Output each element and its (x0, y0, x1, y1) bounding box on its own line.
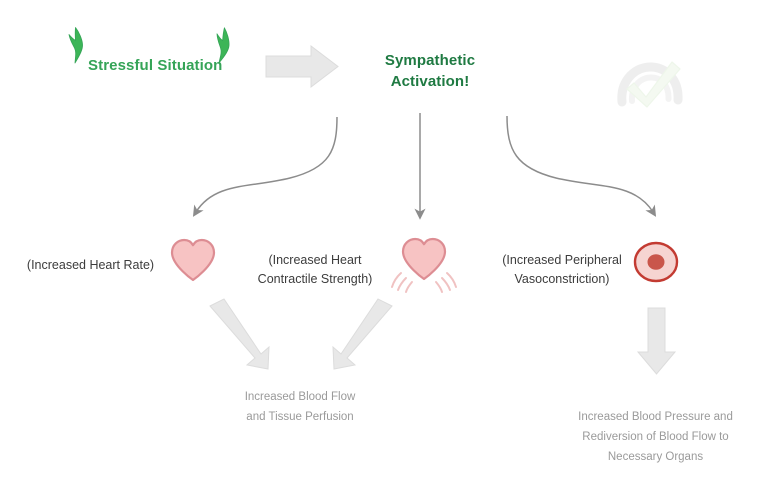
stressful-situation-label: Stressful Situation (88, 57, 222, 74)
outcome-label-contractile-strength-line2: Contractile Strength) (240, 270, 390, 289)
outcome-label-vasoconstriction-line2: Vasoconstriction) (487, 270, 637, 289)
block-arrow-down (638, 308, 675, 374)
sympathetic-activation-line2: Activation! (360, 71, 500, 92)
result-text-blood-flow-line2: and Tissue Perfusion (205, 407, 395, 427)
result-text-blood-pressure-line3: Necessary Organs (543, 447, 768, 467)
curved-arrow-left (196, 117, 337, 212)
result-text-blood-flow: Increased Blood Flow and Tissue Perfusio… (205, 387, 395, 427)
lightning-bolt-icon-left (62, 26, 88, 71)
result-text-blood-pressure-line1: Increased Blood Pressure and (543, 407, 768, 427)
outcome-label-vasoconstriction: (Increased Peripheral Vasoconstriction) (487, 251, 637, 289)
result-text-blood-pressure-line2: Rediversion of Blood Flow to (543, 427, 768, 447)
outcome-label-contractile-strength: (Increased Heart Contractile Strength) (240, 251, 390, 289)
beating-heart-icon (388, 235, 460, 302)
block-arrow-diagonal-right-down (210, 299, 269, 369)
diagram-canvas: Stressful Situation Sympathetic Activati… (0, 0, 768, 486)
outcome-label-vasoconstriction-line1: (Increased Peripheral (487, 251, 637, 270)
blood-cell-icon (632, 240, 680, 289)
check-shield-watermark-icon (612, 52, 688, 115)
curved-arrow-right (507, 116, 653, 212)
sympathetic-activation-label: Sympathetic Activation! (360, 50, 500, 92)
block-arrow-diagonal-left-down (333, 299, 392, 369)
heart-icon (168, 237, 218, 288)
outcome-label-contractile-strength-line1: (Increased Heart (240, 251, 390, 270)
result-text-blood-pressure: Increased Blood Pressure and Rediversion… (543, 407, 768, 467)
block-arrow-right (266, 46, 338, 87)
sympathetic-activation-line1: Sympathetic (360, 50, 500, 71)
outcome-label-heart-rate: (Increased Heart Rate) (8, 256, 173, 275)
result-text-blood-flow-line1: Increased Blood Flow (205, 387, 395, 407)
